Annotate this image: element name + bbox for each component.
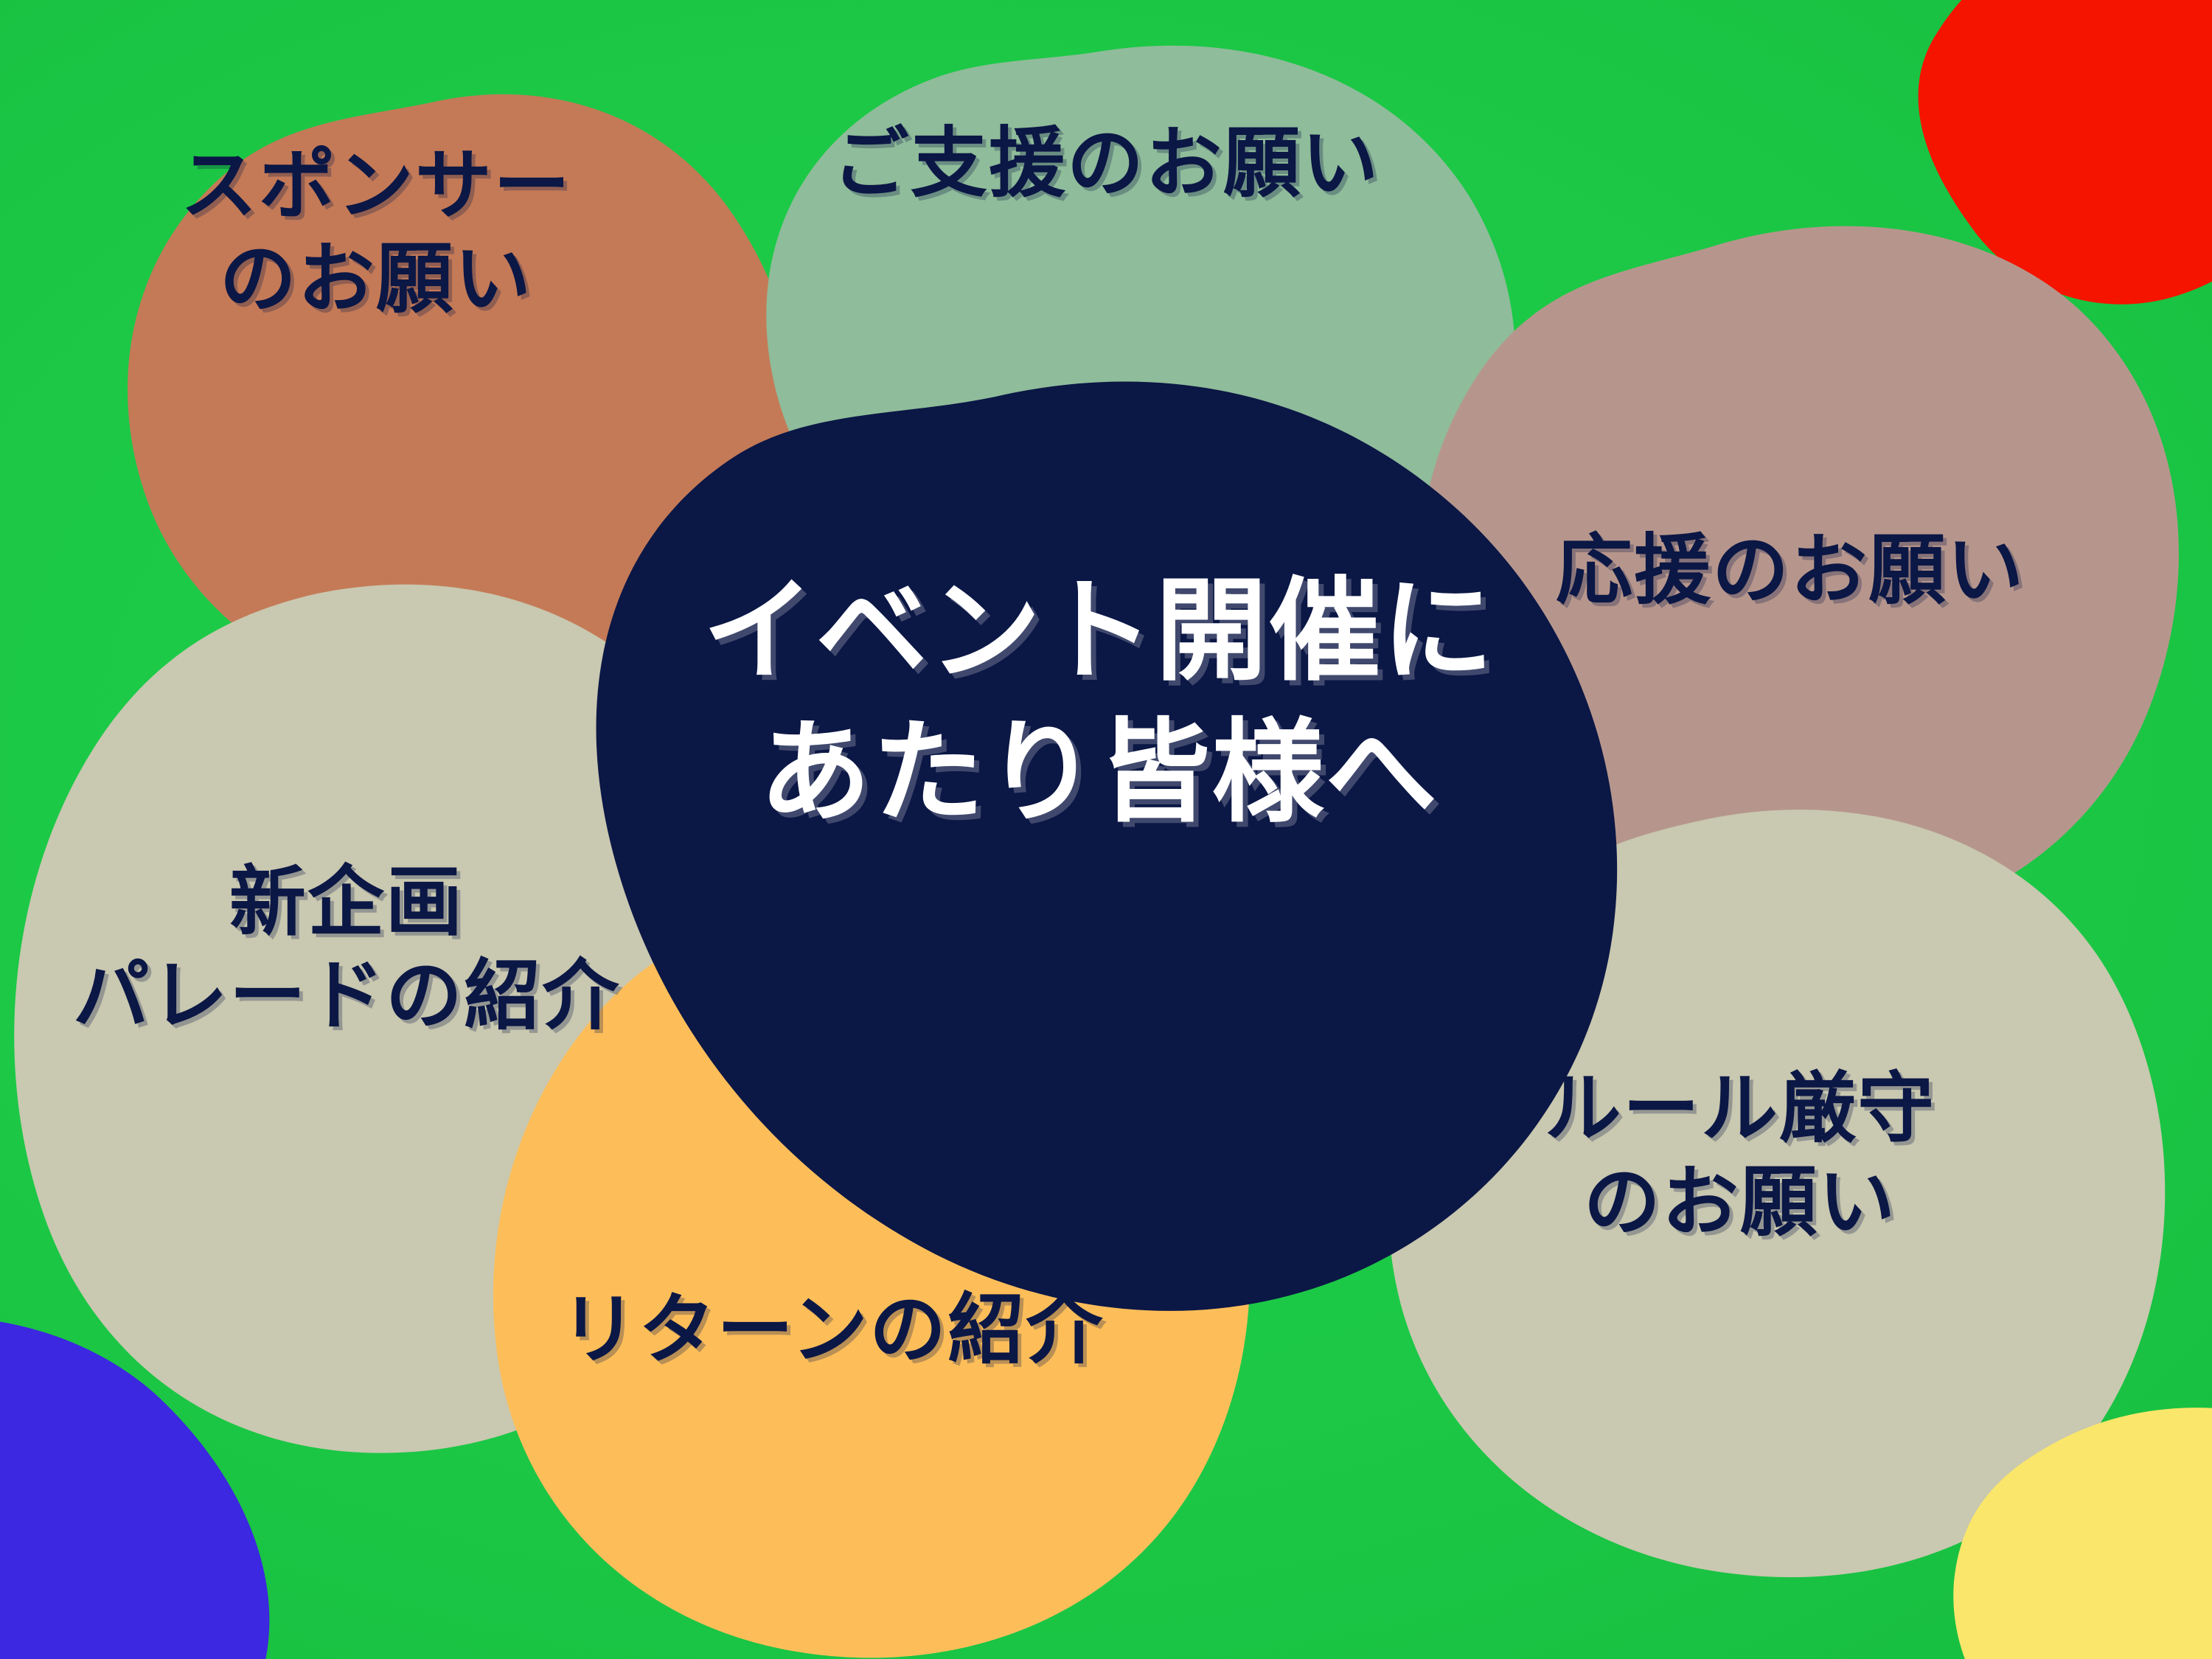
sponsor-label: スポンサー のお願い	[103, 139, 649, 326]
poster-headline: イベント開催に あたり皆様へ	[560, 560, 1637, 843]
yellow-accent-blob	[1939, 1401, 2212, 1659]
blue-accent-blob	[0, 1283, 310, 1659]
shien-label: ご支援のお願い	[789, 116, 1423, 210]
parade-label: 新企画 パレードの紹介	[15, 855, 678, 1043]
poster-canvas: スポンサー のお願い ご支援のお願い 応援のお願い 新企画 パレードの紹介 ルー…	[0, 0, 2212, 1659]
ouen-label: 応援のお願い	[1556, 524, 2146, 617]
title-blob[interactable]	[582, 383, 1630, 1312]
